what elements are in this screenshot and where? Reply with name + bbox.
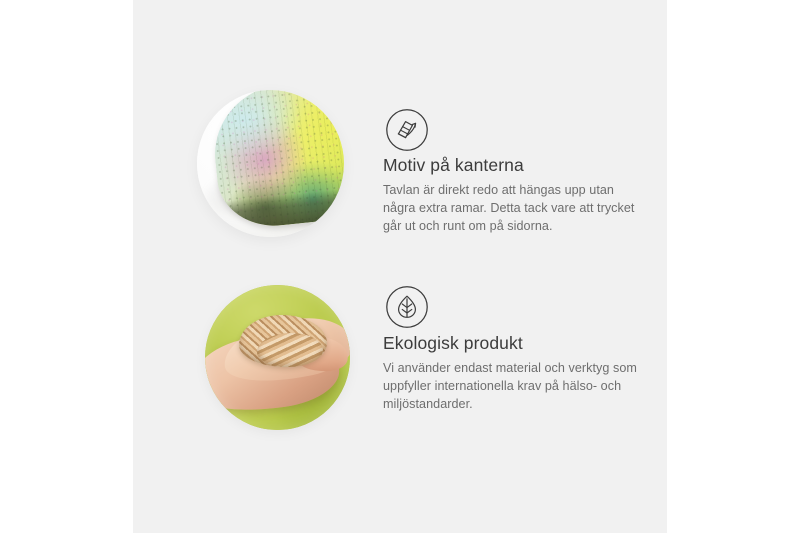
hands-with-wood-chips-photo (205, 285, 350, 430)
feature-text-canvas-edges: Motiv på kanterna Tavlan är direkt redo … (383, 155, 643, 236)
feature-text-eco-product: Ekologisk produkt Vi använder endast mat… (383, 333, 655, 414)
feature-description: Tavlan är direkt redo att hängas upp uta… (383, 182, 643, 236)
product-feature-panel: Motiv på kanterna Tavlan är direkt redo … (0, 0, 800, 533)
canvas-block (208, 90, 344, 231)
content-panel (133, 0, 667, 533)
leaf-icon (385, 285, 429, 329)
feature-description: Vi använder endast material och verktyg … (383, 360, 655, 414)
canvas-wrapped-edges-icon (385, 108, 429, 152)
canvas-corner-photo (197, 90, 344, 237)
feature-title: Motiv på kanterna (383, 155, 643, 176)
feature-title: Ekologisk produkt (383, 333, 655, 354)
photo-vignette (205, 285, 350, 430)
